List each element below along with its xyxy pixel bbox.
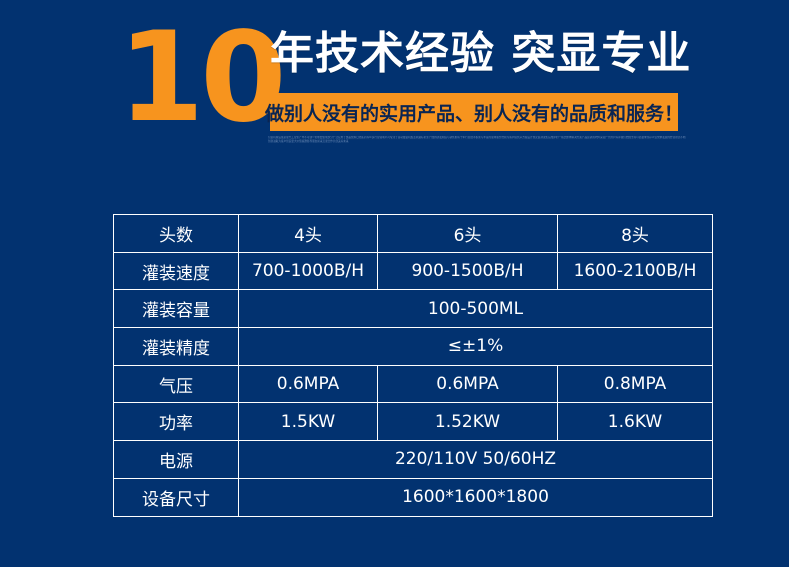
row-value-cell: 1.6KW	[558, 403, 713, 441]
row-value-cell-merged: ≤±1%	[239, 328, 713, 366]
row-value-cell-merged: 100-500ML	[239, 290, 713, 328]
page-root: { "banner": { "big_number": "10", "headl…	[0, 0, 789, 567]
row-label-cell: 灌装速度	[114, 252, 239, 290]
table-row: 电源220/110V 50/60HZ	[114, 441, 713, 479]
subbanner-slogan: 做别人没有的实用产品、别人没有的品质和服务！	[265, 99, 683, 126]
row-value-cell: 8头	[558, 215, 713, 253]
row-value-cell: 0.6MPA	[239, 365, 378, 403]
table-row: 设备尺寸1600*1600*1800	[114, 478, 713, 516]
spec-table-body: 头数4头6头8头灌装速度700-1000B/H900-1500B/H1600-2…	[114, 215, 713, 517]
row-label-cell: 电源	[114, 441, 239, 479]
fine-print-paragraph: 包装机械设备是现代工业生产中不可缺少的重要组成部分广泛应用于食品饮料日化医药等众…	[268, 136, 688, 143]
row-label-cell: 头数	[114, 215, 239, 253]
row-value-cell: 6头	[378, 215, 558, 253]
row-value-cell: 4头	[239, 215, 378, 253]
years-number: 10	[118, 16, 283, 140]
row-value-cell: 0.8MPA	[558, 365, 713, 403]
row-value-cell: 0.6MPA	[378, 365, 558, 403]
row-value-cell: 900-1500B/H	[378, 252, 558, 290]
row-value-cell: 700-1000B/H	[239, 252, 378, 290]
row-value-cell: 1600-2100B/H	[558, 252, 713, 290]
row-value-cell-merged: 220/110V 50/60HZ	[239, 441, 713, 479]
table-row: 功率1.5KW1.52KW1.6KW	[114, 403, 713, 441]
table-row: 灌装精度≤±1%	[114, 328, 713, 366]
row-label-cell: 气压	[114, 365, 239, 403]
row-value-cell-merged: 1600*1600*1800	[239, 478, 713, 516]
table-row: 气压0.6MPA0.6MPA0.8MPA	[114, 365, 713, 403]
header-banner: 10 年技术经验 突显专业 做别人没有的实用产品、别人没有的品质和服务！ 包装机…	[0, 0, 789, 185]
row-label-cell: 功率	[114, 403, 239, 441]
row-label-cell: 灌装精度	[114, 328, 239, 366]
row-value-cell: 1.52KW	[378, 403, 558, 441]
table-row: 灌装速度700-1000B/H900-1500B/H1600-2100B/H	[114, 252, 713, 290]
specification-table: 头数4头6头8头灌装速度700-1000B/H900-1500B/H1600-2…	[113, 214, 713, 517]
table-row: 灌装容量100-500ML	[114, 290, 713, 328]
row-value-cell: 1.5KW	[239, 403, 378, 441]
row-label-cell: 设备尺寸	[114, 478, 239, 516]
subbanner-bar: 做别人没有的实用产品、别人没有的品质和服务！	[270, 93, 678, 131]
row-label-cell: 灌装容量	[114, 290, 239, 328]
headline-title: 年技术经验 突显专业	[270, 28, 691, 80]
table-row: 头数4头6头8头	[114, 215, 713, 253]
